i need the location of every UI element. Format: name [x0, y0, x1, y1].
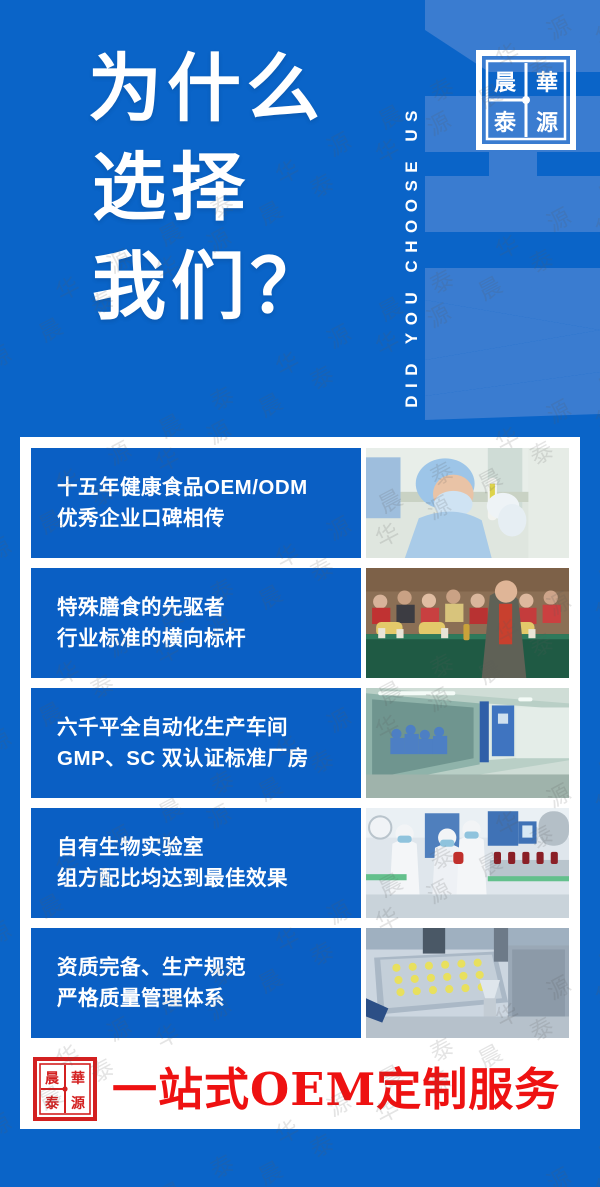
- feature-card-photo-blister-packaging: [366, 928, 569, 1038]
- feature-card: 资质完备、生产规范 严格质量管理体系: [31, 928, 569, 1038]
- feature-card-photo-production-line-workers: [366, 808, 569, 918]
- feature-card-line-1: 特殊膳食的先驱者: [57, 592, 361, 623]
- feature-panel: 十五年健康食品OEM/ODM 优秀企业口碑相传: [20, 437, 580, 1049]
- feature-card-line-1: 六千平全自动化生产车间: [57, 712, 361, 743]
- feature-card-line-2: 行业标准的横向标杆: [57, 623, 361, 654]
- svg-text:泰: 泰: [493, 110, 517, 136]
- poster-root: 为什么 选择 我们？ DID YOU CHOOSE US 晨 華 泰 源 十五年…: [0, 0, 600, 1187]
- hero-title-line-1: 为什么: [88, 40, 329, 139]
- hero-title: 为什么 选择 我们？: [88, 40, 329, 337]
- feature-card: 特殊膳食的先驱者 行业标准的横向标杆: [31, 568, 569, 678]
- svg-text:晨: 晨: [45, 1071, 60, 1087]
- feature-card-photo-cleanroom-corridor: [366, 688, 569, 798]
- brand-seal-top-icon: 晨 華 泰 源: [474, 48, 578, 152]
- feature-card-line-2: 严格质量管理体系: [57, 983, 361, 1014]
- feature-card-line-1: 资质完备、生产规范: [57, 952, 361, 983]
- brand-seal-red-icon: 晨 華 泰 源: [32, 1056, 98, 1122]
- feature-card-text: 特殊膳食的先驱者 行业标准的横向标杆: [31, 568, 361, 678]
- svg-text:源: 源: [71, 1095, 85, 1112]
- feature-card-list: 十五年健康食品OEM/ODM 优秀企业口碑相传: [31, 448, 569, 1038]
- svg-text:晨: 晨: [494, 70, 517, 96]
- feature-card-line-1: 自有生物实验室: [57, 832, 361, 863]
- feature-card-line-2: 优秀企业口碑相传: [57, 503, 361, 534]
- feature-card: 六千平全自动化生产车间 GMP、SC 双认证标准厂房: [31, 688, 569, 798]
- vertical-english-tagline: DID YOU CHOOSE US: [396, 12, 428, 408]
- feature-card-line-2: 组方配比均达到最佳效果: [57, 863, 361, 894]
- svg-text:華: 華: [536, 70, 558, 96]
- feature-card-line-2: GMP、SC 双认证标准厂房: [57, 743, 361, 774]
- feature-card: 自有生物实验室 组方配比均达到最佳效果: [31, 808, 569, 918]
- feature-card-text: 十五年健康食品OEM/ODM 优秀企业口碑相传: [31, 448, 361, 558]
- banner-headline: 一站式OEM定制服务: [112, 1067, 560, 1112]
- svg-text:源: 源: [536, 110, 558, 136]
- feature-card: 十五年健康食品OEM/ODM 优秀企业口碑相传: [31, 448, 569, 558]
- feature-card-line-1: 十五年健康食品OEM/ODM: [57, 472, 361, 503]
- vertical-english-text: DID YOU CHOOSE US: [402, 103, 422, 408]
- feature-card-photo-conference-audience: [366, 568, 569, 678]
- hero-title-line-2: 选择: [88, 139, 329, 238]
- feature-card-photo-lab-technician: [366, 448, 569, 558]
- feature-card-text: 自有生物实验室 组方配比均达到最佳效果: [31, 808, 361, 918]
- svg-text:泰: 泰: [44, 1095, 60, 1112]
- feature-card-text: 六千平全自动化生产车间 GMP、SC 双认证标准厂房: [31, 688, 361, 798]
- svg-text:華: 華: [71, 1070, 85, 1087]
- feature-card-text: 资质完备、生产规范 严格质量管理体系: [31, 928, 361, 1038]
- hero-title-line-3: 我们？: [88, 238, 329, 337]
- bottom-banner: 晨 華 泰 源 一站式OEM定制服务: [20, 1049, 580, 1129]
